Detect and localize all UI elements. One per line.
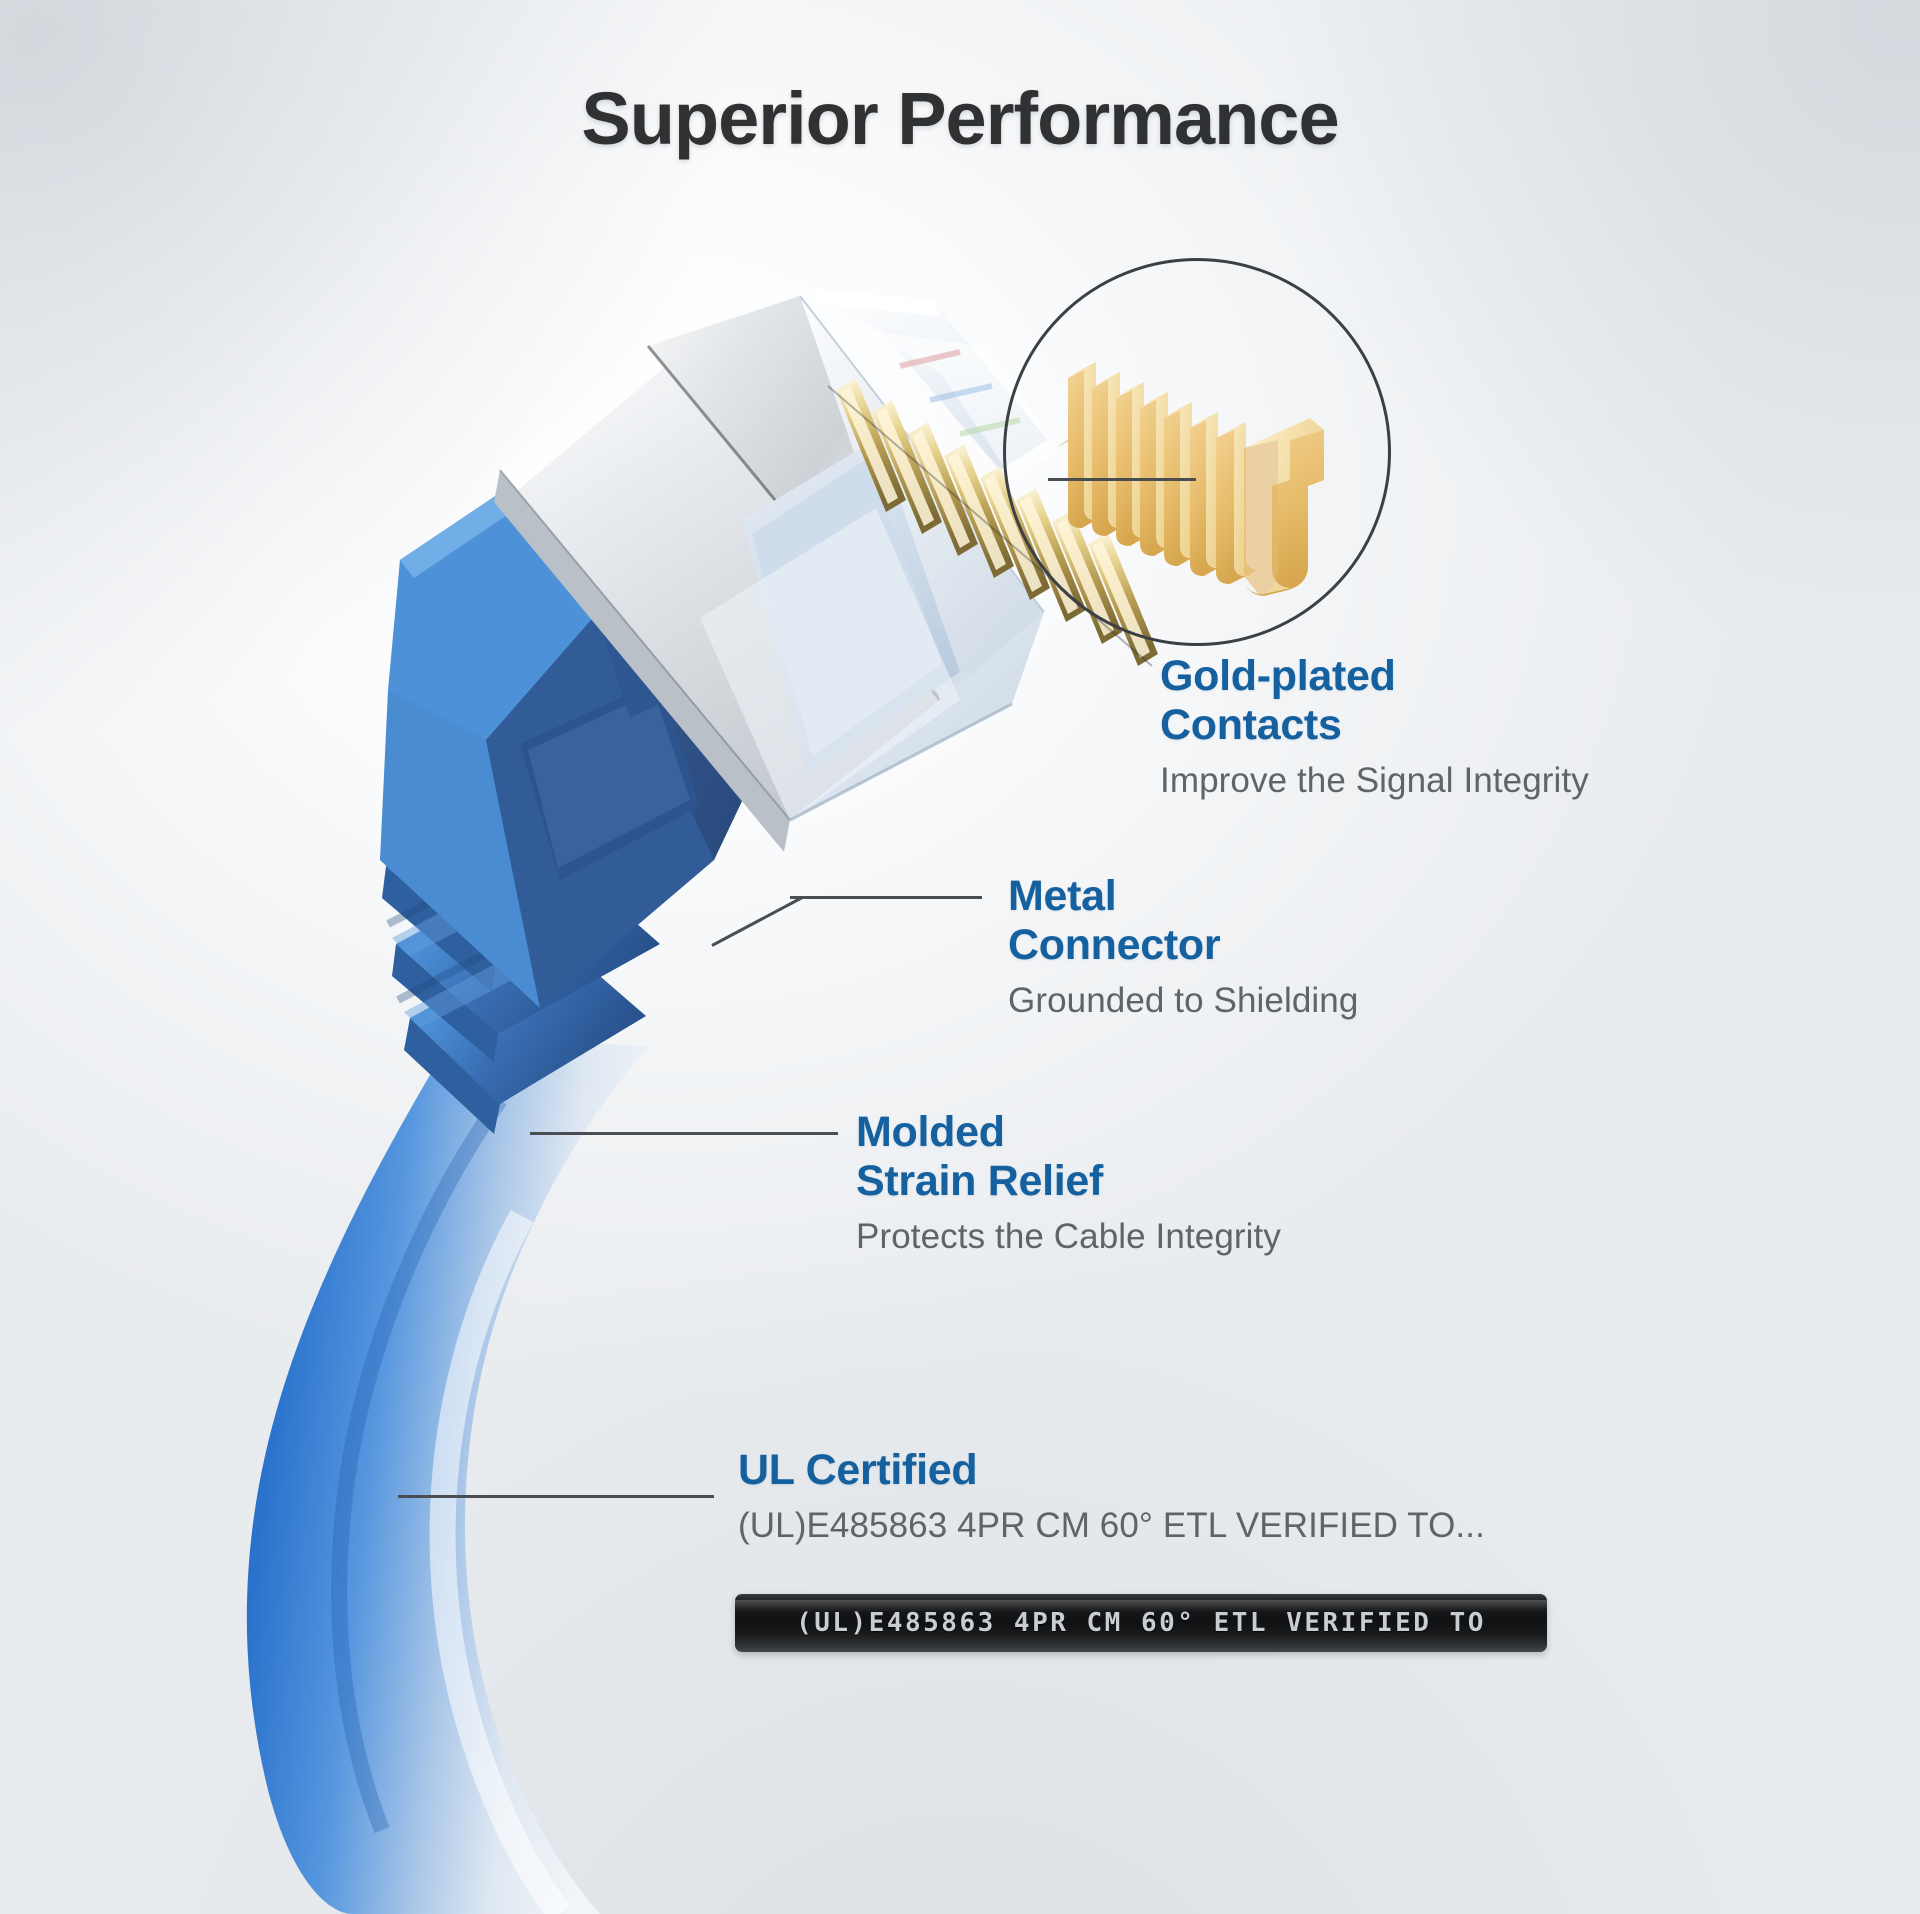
callout-subtitle: Improve the Signal Integrity	[1160, 759, 1780, 803]
leader-line-ul-certified	[398, 1495, 714, 1498]
leader-line-gold-contacts	[1048, 478, 1196, 481]
cable-jacket-print-bar: (UL)E485863 4PR CM 60° ETL VERIFIED TO	[735, 1594, 1547, 1652]
callout-subtitle: Grounded to Shielding	[1008, 979, 1628, 1023]
callout-molded-strain-relief: Molded Strain Relief Protects the Cable …	[856, 1108, 1496, 1259]
callout-heading-line1: Gold-plated	[1160, 652, 1396, 700]
callout-subtitle: Protects the Cable Integrity	[856, 1215, 1496, 1259]
callout-heading: Gold-plated Contacts	[1160, 652, 1780, 750]
callout-heading-line2: Contacts	[1160, 701, 1342, 749]
gold-contact-pins-icon	[1038, 300, 1358, 600]
leader-line-metal-connector	[790, 896, 982, 899]
pin-blade-8	[1244, 418, 1324, 596]
callout-heading-line2: Strain Relief	[856, 1157, 1103, 1205]
callout-gold-plated-contacts: Gold-plated Contacts Improve the Signal …	[1160, 652, 1780, 803]
callout-metal-connector: Metal Connector Grounded to Shielding	[1008, 872, 1628, 1023]
infographic-canvas: Superior Performance	[0, 0, 1920, 1914]
callout-heading-line1: Molded	[856, 1108, 1005, 1156]
callout-heading: UL Certified	[738, 1446, 1618, 1495]
callout-heading-line2: Connector	[1008, 921, 1220, 969]
callout-heading: Molded Strain Relief	[856, 1108, 1496, 1206]
callout-subtitle: (UL)E485863 4PR CM 60° ETL VERIFIED TO..…	[738, 1504, 1618, 1548]
leader-line-strain-relief	[530, 1132, 838, 1135]
cable-body	[247, 1038, 650, 1914]
callout-heading-line1: Metal	[1008, 872, 1116, 920]
callout-heading: Metal Connector	[1008, 872, 1628, 970]
jacket-print-text: (UL)E485863 4PR CM 60° ETL VERIFIED TO	[735, 1608, 1547, 1638]
callout-ul-certified: UL Certified (UL)E485863 4PR CM 60° ETL …	[738, 1446, 1618, 1548]
